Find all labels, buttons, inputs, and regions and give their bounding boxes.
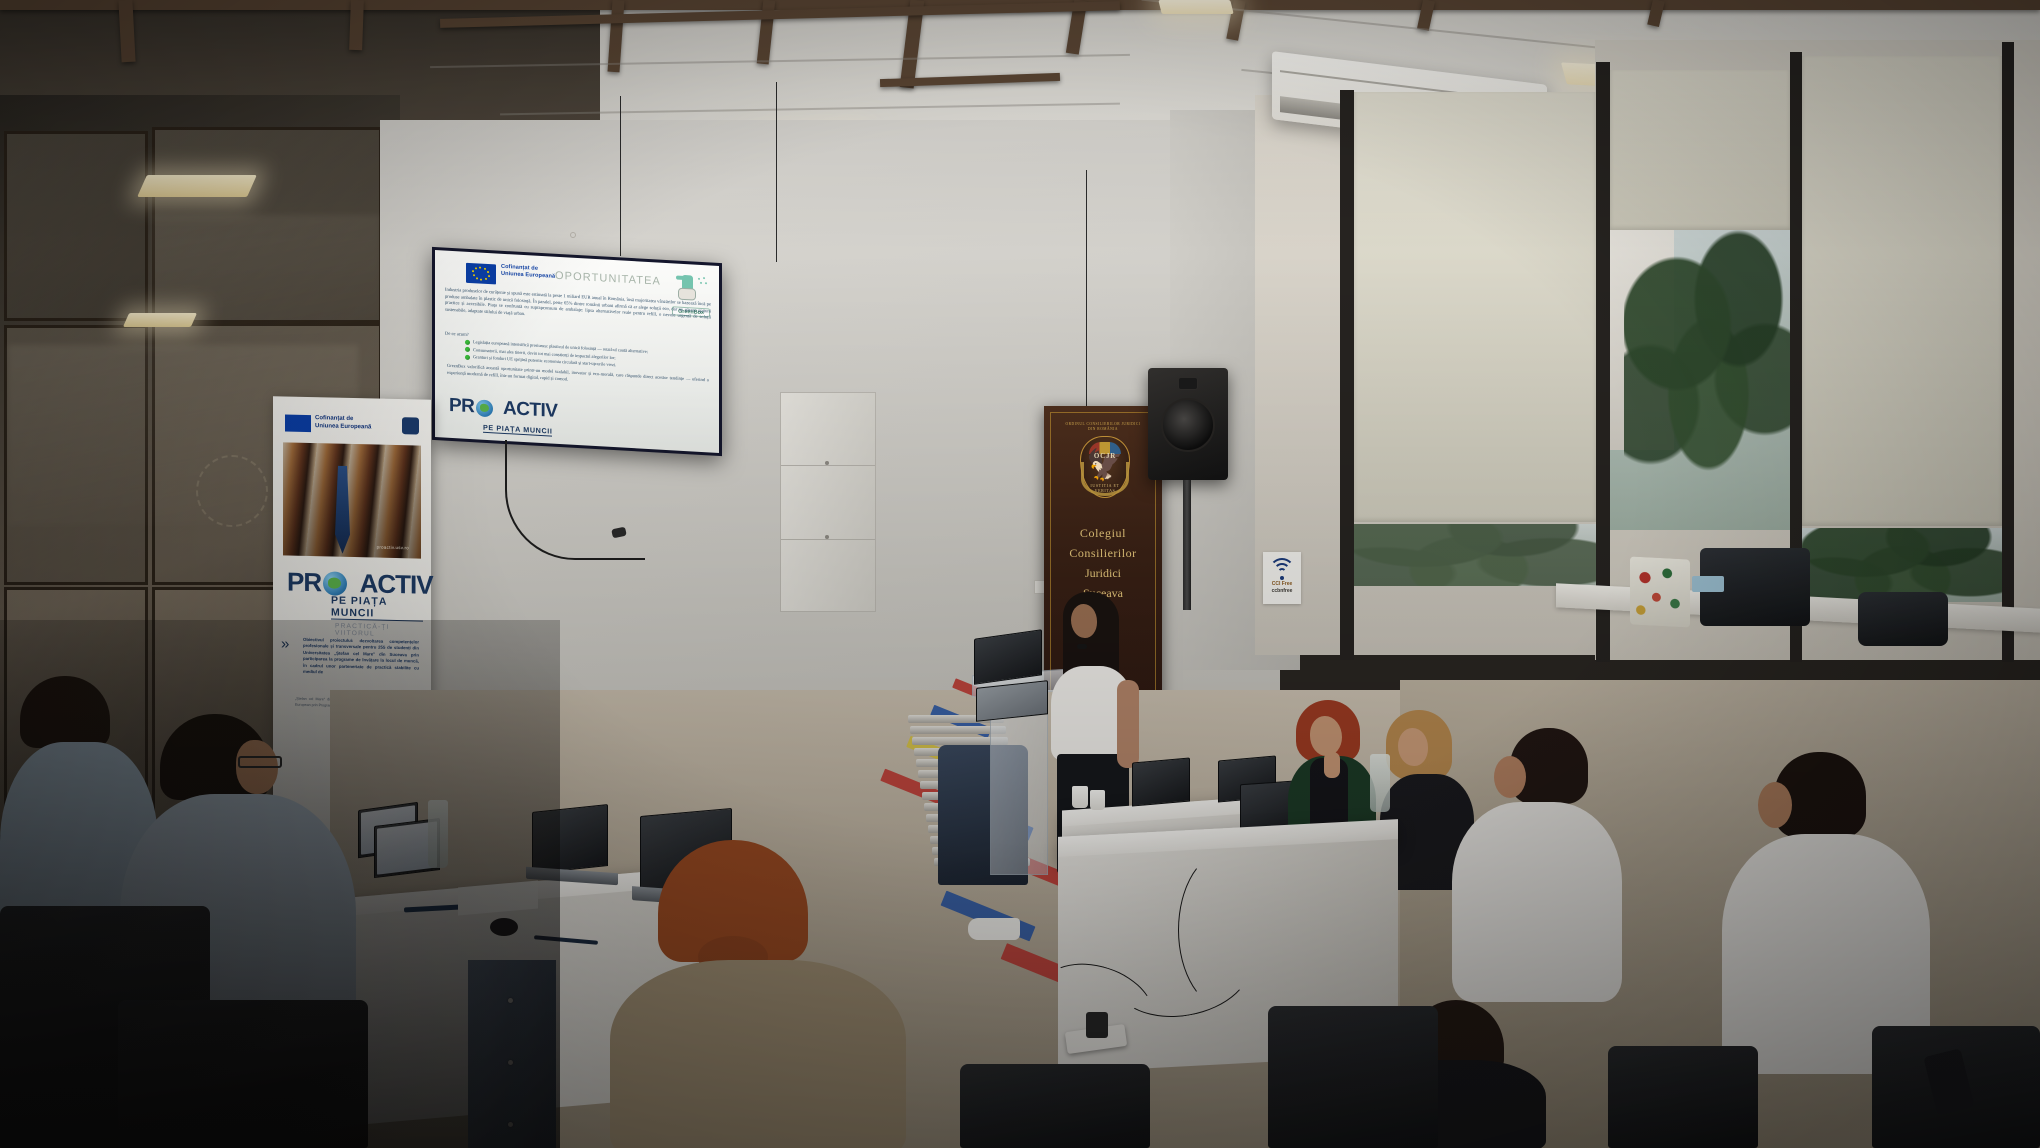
eu-flag-icon bbox=[466, 263, 496, 285]
tree-outside bbox=[1624, 230, 1790, 474]
proactiv-tagline: PE PIAȚA MUNCII bbox=[483, 423, 552, 437]
crest-motto: IUSTITIA ET VERITAS bbox=[1080, 483, 1130, 493]
ocjr-crest: 🦅 OCJR IUSTITIA ET VERITAS bbox=[1080, 436, 1130, 498]
spray-particles-icon bbox=[697, 277, 709, 288]
proactiv-wordmark: PROOACTIV bbox=[449, 396, 557, 421]
eu-stars bbox=[466, 263, 496, 285]
crest-acronym: OCJR bbox=[1080, 452, 1130, 460]
speaker-woofer bbox=[1161, 398, 1215, 452]
chair[interactable] bbox=[1608, 1046, 1758, 1148]
power-adapter[interactable] bbox=[1086, 1012, 1108, 1038]
hanging-wire bbox=[776, 82, 777, 262]
glasses-icon bbox=[238, 756, 282, 768]
wall-seal-decal bbox=[196, 455, 268, 527]
eu-funding-text: Cofinanțat de Uniunea Europeană bbox=[315, 414, 371, 431]
window-blind[interactable] bbox=[1354, 92, 1596, 522]
window-frame bbox=[1340, 90, 1354, 660]
tree-outside bbox=[1354, 524, 1596, 586]
banner-photo-pencils: proactiv.usv.ro bbox=[283, 442, 421, 558]
slide-surface: Cofinanțat de Uniunea Europeană OPORTUNI… bbox=[435, 250, 719, 453]
drawer-knob[interactable] bbox=[508, 998, 513, 1003]
glass-pane bbox=[4, 131, 148, 321]
ceiling-beam bbox=[349, 0, 364, 50]
globe-icon bbox=[323, 571, 347, 596]
proactiv-word-left: PR bbox=[449, 395, 474, 417]
paper-cup[interactable] bbox=[1072, 786, 1088, 808]
laptop-lid bbox=[1132, 757, 1190, 806]
backpack bbox=[1858, 592, 1948, 646]
eu-funding-line2: Uniunea Europeană bbox=[315, 422, 371, 431]
eu-funding-text: Cofinanțat de Uniunea Europeană bbox=[501, 264, 555, 282]
wifi-network-ssid: ccbnfree bbox=[1263, 588, 1301, 594]
proactiv-word-right: ACTIV bbox=[360, 568, 433, 600]
slide-question: De ce acum? bbox=[445, 331, 469, 337]
spray-nozzle-icon bbox=[676, 276, 685, 281]
chevron-right-icon: » bbox=[281, 636, 299, 654]
storage-cabinet[interactable] bbox=[780, 392, 876, 612]
presenter-shoe bbox=[968, 918, 1020, 940]
laptop-lid bbox=[974, 629, 1042, 685]
government-emblem-icon bbox=[402, 417, 419, 434]
proactiv-word-right: ACTIV bbox=[503, 398, 558, 422]
computer-mouse[interactable] bbox=[490, 918, 518, 936]
window-glass bbox=[1610, 230, 1790, 530]
globe-icon bbox=[476, 399, 493, 417]
chair[interactable] bbox=[118, 1000, 368, 1148]
paper-cup[interactable] bbox=[1090, 790, 1105, 810]
attendee-face bbox=[1494, 756, 1526, 798]
tree-outside bbox=[1802, 528, 2002, 602]
bullet-dot-icon bbox=[465, 339, 470, 344]
ocjr-title-line2: Consilierilor bbox=[1044, 546, 1162, 561]
attendee-hand bbox=[1324, 752, 1340, 778]
laptop-lid bbox=[532, 804, 608, 874]
window-blind[interactable] bbox=[1802, 56, 2002, 526]
chair[interactable] bbox=[960, 1064, 1150, 1148]
conference-room-photo: Cofinanțat de Uniunea Europeană OPORTUNI… bbox=[0, 0, 2040, 1148]
attendee-face bbox=[1310, 716, 1342, 756]
hand-icon bbox=[678, 288, 696, 301]
reflected-ceiling-light bbox=[137, 175, 257, 197]
drawer-knob[interactable] bbox=[508, 1060, 513, 1065]
blue-pencil-icon bbox=[335, 466, 350, 554]
ocjr-org-name: ORDINUL CONSILIERILOR JURIDICI DIN ROMÂN… bbox=[1044, 422, 1162, 432]
attendee-face bbox=[1758, 782, 1792, 828]
bullet-dot-icon bbox=[465, 347, 470, 352]
window-glass bbox=[1802, 528, 2002, 602]
wall-cable bbox=[1178, 850, 1278, 1010]
attendee-right-front bbox=[1722, 752, 1932, 1072]
proactiv-logo: PROOACTIV PE PIAȚA MUNCII PRACTICĂ-ȚI VI… bbox=[287, 569, 423, 639]
window-frame bbox=[1596, 62, 1610, 662]
chair[interactable] bbox=[1268, 1006, 1438, 1148]
speaker-stand-pole bbox=[1183, 480, 1191, 610]
floral-bag bbox=[1630, 556, 1690, 627]
projection-screen: Cofinanțat de Uniunea Europeană OPORTUNI… bbox=[432, 247, 722, 456]
proactiv-wordmark: PROOACTIV bbox=[287, 569, 423, 598]
glass-reflection bbox=[150, 215, 380, 335]
wifi-sign: CCI Free ccbnfree bbox=[1263, 552, 1301, 604]
pa-speaker bbox=[1148, 368, 1228, 480]
wifi-icon bbox=[1263, 557, 1301, 581]
eu-flag-icon bbox=[285, 414, 311, 432]
slide-proactiv-logo: PROOACTIV PE PIAȚA MUNCII bbox=[449, 396, 557, 439]
water-bottle[interactable] bbox=[428, 800, 448, 868]
wire-clip bbox=[570, 232, 576, 238]
window-blind[interactable] bbox=[1610, 70, 1790, 230]
window-sill-item bbox=[1692, 576, 1724, 592]
banner-url: proactiv.usv.ro bbox=[377, 545, 409, 551]
presenter-microphone bbox=[1077, 644, 1087, 649]
attendee-hair bbox=[20, 676, 110, 748]
bullet-dot-icon bbox=[465, 354, 470, 359]
attendee-beige bbox=[610, 840, 910, 1148]
hanging-wire bbox=[620, 96, 621, 256]
water-bottle[interactable] bbox=[1370, 754, 1390, 812]
attendee-torso bbox=[1452, 802, 1622, 1002]
left-desk-drawer-unit[interactable] bbox=[468, 960, 556, 1148]
wifi-network-label: CCI Free bbox=[1263, 581, 1301, 587]
attendee-white-shirt bbox=[1452, 728, 1624, 1028]
window-frame bbox=[2002, 42, 2014, 662]
attendee-torso bbox=[610, 960, 906, 1148]
ocjr-title-line1: Colegiul bbox=[1044, 526, 1162, 541]
speaker-tweeter bbox=[1178, 377, 1198, 390]
window-glass bbox=[1354, 524, 1596, 586]
proactiv-subtagline: PRACTICĂ-ȚI VIITORUL bbox=[335, 623, 423, 639]
presenter-arm bbox=[1117, 680, 1139, 768]
proactiv-word-left: PR bbox=[287, 567, 321, 598]
presenter-face bbox=[1071, 604, 1097, 638]
ocjr-title-line3: Juridici bbox=[1044, 566, 1162, 581]
slide-title: OPORTUNITATEA bbox=[555, 270, 661, 288]
ceiling-light bbox=[1158, 0, 1233, 14]
attendee-face bbox=[1398, 728, 1428, 766]
drawer-knob[interactable] bbox=[508, 1122, 513, 1127]
ocjr-org-line2: DIN ROMÂNIA bbox=[1044, 427, 1162, 432]
banner-objective-text: Obiectivul proiectului: dezvoltarea comp… bbox=[303, 637, 419, 678]
